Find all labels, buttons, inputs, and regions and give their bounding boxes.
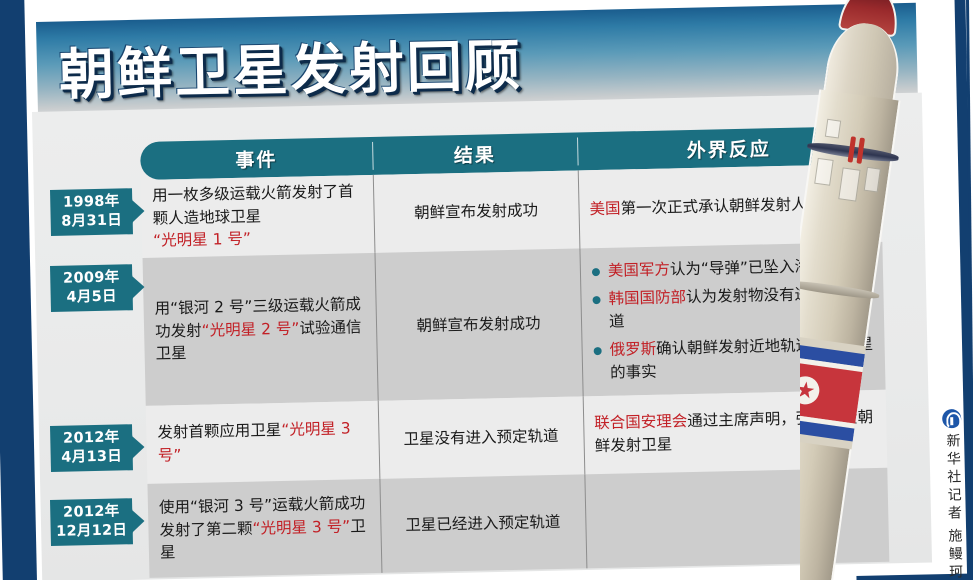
cell-event: 使用“银河 3 号”运载火箭成功发射了第二颗“光明星 3 号”卫星 bbox=[147, 479, 381, 578]
column-header-event: 事件 bbox=[140, 137, 373, 180]
cell-reaction: 美国第一次正式承认朝鲜发射人造卫星 bbox=[578, 164, 883, 249]
date-badge-2012-apr: 2012年 4月13日 bbox=[50, 424, 156, 472]
cell-result: 朝鲜宣布发射成功 bbox=[373, 170, 580, 252]
date-day: 12月12日 bbox=[56, 521, 128, 541]
infographic-canvas: 朝鲜卫星发射回顾 事件 结果 外界反应 用一枚多级运载火箭发射了首颗人造地球卫星… bbox=[0, 0, 973, 580]
date-year: 2012年 bbox=[63, 503, 120, 523]
credit-author: 施鳗珂 bbox=[944, 528, 964, 580]
cell-result: 卫星已经进入预定轨道 bbox=[379, 474, 586, 572]
column-header-reaction: 外界反应 bbox=[577, 126, 881, 171]
cell-result: 卫星没有进入预定轨道 bbox=[378, 396, 585, 478]
xinhua-logo-icon bbox=[942, 409, 961, 428]
list-item: 俄罗斯确认朝鲜发射近地轨道人造卫星的事实 bbox=[592, 333, 874, 384]
cell-event: 用一枚多级运载火箭发射了首颗人造地球卫星 “光明星 1 号” bbox=[141, 175, 375, 258]
date-day: 8月31日 bbox=[61, 211, 122, 231]
date-year: 2012年 bbox=[63, 429, 120, 449]
cell-reaction: 美国军方认为“导弹”已坠入海中 韩国国防部认为发射物没有进入预定轨道 俄罗斯确认… bbox=[579, 242, 885, 397]
date-badge-body: 2012年 12月12日 bbox=[50, 498, 133, 546]
table-row: 用“银河 2 号”三级运载火箭成功发射“光明星 2 号”试验通信卫星 朝鲜宣布发… bbox=[143, 242, 886, 406]
page-title: 朝鲜卫星发射回顾 bbox=[58, 15, 760, 110]
launch-history-table: 事件 结果 外界反应 用一枚多级运载火箭发射了首颗人造地球卫星 “光明星 1 号… bbox=[140, 126, 889, 580]
reaction-bullet-list: 美国军方认为“导弹”已坠入海中 韩国国防部认为发射物没有进入预定轨道 俄罗斯确认… bbox=[591, 254, 875, 384]
cell-event: 用“银河 2 号”三级运载火箭成功发射“光明星 2 号”试验通信卫星 bbox=[143, 253, 378, 406]
event-text-highlight: “光明星 1 号” bbox=[153, 230, 251, 250]
cell-reaction bbox=[584, 468, 889, 569]
date-year: 2009年 bbox=[63, 269, 120, 289]
date-badge-1998: 1998年 8月31日 bbox=[50, 188, 156, 236]
credit-agency: 新华社记者 bbox=[943, 433, 964, 523]
date-badge-body: 2009年 4月5日 bbox=[50, 264, 133, 312]
reaction-actor: 美国军方 bbox=[608, 260, 670, 279]
date-badge-body: 1998年 8月31日 bbox=[50, 188, 133, 236]
event-text: 发射首颗应用卫星 bbox=[157, 421, 281, 442]
date-badge-2012-dec: 2012年 12月12日 bbox=[50, 498, 156, 546]
date-day: 4月13日 bbox=[61, 447, 122, 467]
cell-event: 发射首颗应用卫星“光明星 3 号” bbox=[146, 401, 380, 484]
list-item: 韩国国防部认为发射物没有进入预定轨道 bbox=[591, 282, 873, 333]
column-header-result: 结果 bbox=[372, 132, 578, 174]
reaction-text: 第一次正式承认朝鲜发射人造卫星 bbox=[620, 194, 853, 217]
cell-reaction: 联合国安理会通过主席声明，强烈谴责朝鲜发射卫星 bbox=[583, 390, 888, 475]
reaction-actor: 俄罗斯 bbox=[609, 340, 656, 359]
date-badge-body: 2012年 4月13日 bbox=[50, 424, 133, 472]
table-row: 使用“银河 3 号”运载火箭成功发射了第二颗“光明星 3 号”卫星 卫星已经进入… bbox=[147, 468, 889, 578]
reaction-actor: 联合国安理会 bbox=[594, 412, 687, 432]
reaction-actor: 韩国国防部 bbox=[608, 288, 686, 308]
event-text-highlight: “光明星 3 号” bbox=[252, 517, 350, 537]
reaction-actor: 美国 bbox=[589, 199, 620, 218]
reaction-text: 认为“导弹”已坠入海中 bbox=[670, 257, 826, 278]
date-badge-2009: 2009年 4月5日 bbox=[50, 264, 156, 312]
event-text: 用一枚多级运载火箭发射了首颗人造地球卫星 bbox=[152, 182, 354, 227]
event-text-highlight: “光明星 2 号” bbox=[201, 319, 299, 339]
cell-result: 朝鲜宣布发射成功 bbox=[374, 248, 582, 400]
date-year: 1998年 bbox=[63, 193, 120, 213]
date-day: 4月5日 bbox=[66, 288, 117, 308]
list-item: 美国军方认为“导弹”已坠入海中 bbox=[591, 254, 872, 283]
